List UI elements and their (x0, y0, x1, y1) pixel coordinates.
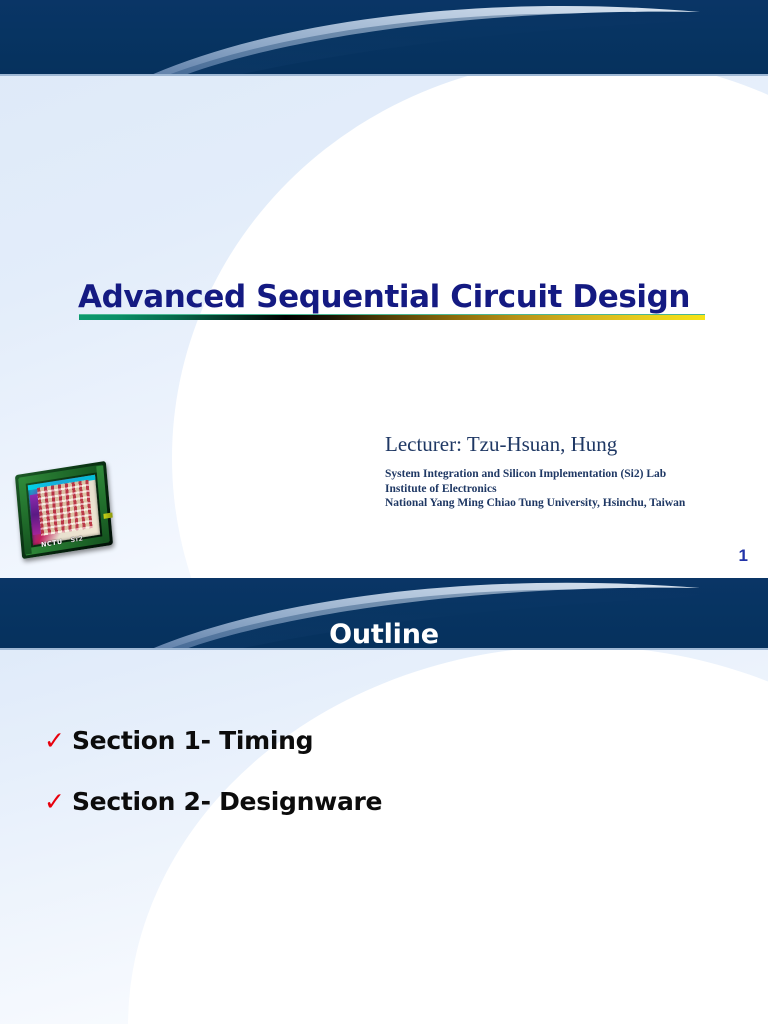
lecturer-name: Lecturer: Tzu-Hsuan, Hung (385, 432, 617, 457)
page-title: Advanced Sequential Circuit Design (78, 279, 690, 315)
outline-slide: Outline ✓ Section 1- Timing ✓ Section 2-… (0, 578, 768, 1024)
title-underline-rule (79, 314, 705, 320)
affiliation-line-3: National Yang Ming Chiao Tung University… (385, 496, 685, 511)
banner-swoosh-decoration (0, 0, 768, 74)
outline-heading: Outline (0, 600, 768, 670)
check-icon: ✓ (44, 728, 65, 753)
title-slide-top-banner (0, 0, 768, 74)
check-icon: ✓ (44, 789, 65, 814)
chip-photo-logo: NCTUSi2 (12, 462, 124, 564)
list-item-label: Section 1- Timing (72, 726, 313, 755)
list-item: ✓ Section 2- Designware (44, 787, 382, 816)
affiliation-line-1: System Integration and Silicon Implement… (385, 467, 685, 482)
die-core-overlay (37, 480, 93, 536)
banner-underline (0, 74, 768, 76)
outline-bullet-list: ✓ Section 1- Timing ✓ Section 2- Designw… (44, 726, 382, 848)
swoosh-icon (0, 0, 768, 74)
list-item: ✓ Section 1- Timing (44, 726, 382, 755)
page-number: 1 (739, 546, 748, 566)
title-slide: Advanced Sequential Circuit Design Lectu… (0, 0, 768, 578)
affiliation-block: System Integration and Silicon Implement… (385, 467, 685, 511)
affiliation-line-2: Institute of Electronics (385, 482, 685, 497)
chip-corner-tab (103, 512, 112, 518)
list-item-label: Section 2- Designware (72, 787, 382, 816)
chip-die (28, 475, 100, 546)
chip-body: NCTUSi2 (15, 461, 113, 559)
slide-deck-page: Advanced Sequential Circuit Design Lectu… (0, 0, 768, 1024)
